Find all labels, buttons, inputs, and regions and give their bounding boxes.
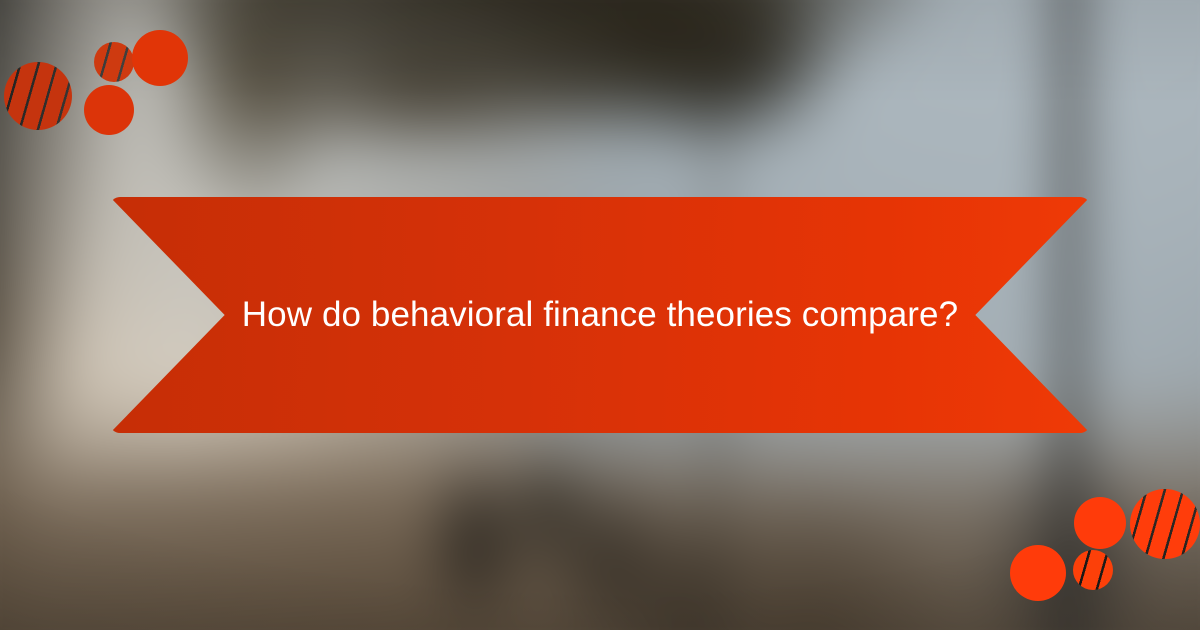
social-share-card: How do behavioral finance theories compa… bbox=[0, 0, 1200, 630]
deco-circle-solid-small bbox=[84, 85, 134, 135]
deco-circle-solid-large bbox=[1074, 497, 1126, 549]
headline-text: How do behavioral finance theories compa… bbox=[110, 197, 1090, 433]
deco-circle-solid-large bbox=[132, 30, 188, 86]
deco-circle-striped-small bbox=[94, 42, 134, 82]
deco-circle-striped-large bbox=[4, 62, 72, 130]
deco-circle-striped-small bbox=[1073, 550, 1113, 590]
deco-circle-striped-large bbox=[1130, 489, 1200, 559]
deco-circle-solid-medium bbox=[1010, 545, 1066, 601]
